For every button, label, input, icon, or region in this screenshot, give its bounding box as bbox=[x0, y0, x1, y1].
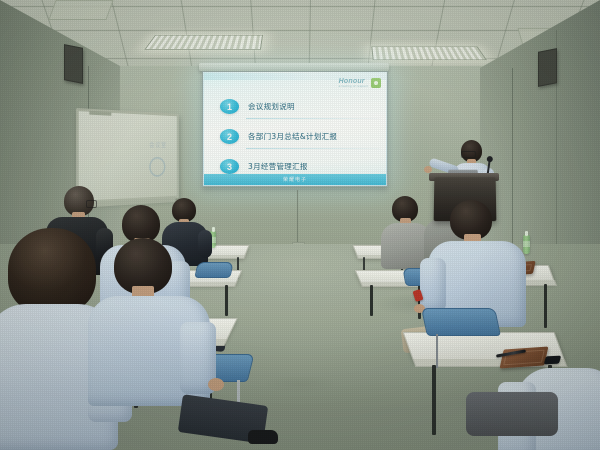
wall-corner-right bbox=[512, 68, 513, 254]
glasses-icon bbox=[86, 200, 97, 208]
ceiling-vent-left bbox=[48, 0, 113, 20]
agenda-number-badge: 1 bbox=[220, 99, 239, 114]
agenda-item: 3 3月经营管理汇报 bbox=[220, 159, 376, 174]
wall-outlet bbox=[297, 190, 298, 247]
agenda-item-label: 会议规划说明 bbox=[248, 101, 295, 112]
wall-speaker-left bbox=[64, 44, 83, 84]
whiteboard-faint-text: 会议室 bbox=[149, 140, 167, 149]
agenda-number-badge: 2 bbox=[220, 129, 239, 144]
slide-footer: 荣耀电子 bbox=[204, 174, 386, 185]
agenda-item: 1 会议规划说明 bbox=[220, 99, 376, 114]
projection-screen: Honour a feeling of respect 1 会议规划说明 2 各… bbox=[202, 71, 388, 187]
recessed-fluorescent-light-left bbox=[144, 35, 263, 50]
slide-footer-text: 荣耀电子 bbox=[283, 176, 307, 183]
agenda-number-badge: 3 bbox=[220, 159, 239, 174]
wall-speaker-right bbox=[538, 48, 557, 87]
whiteboard: 会议室 bbox=[76, 108, 179, 204]
mobile-phone bbox=[544, 356, 561, 365]
whiteboard-faint-mark bbox=[149, 157, 165, 177]
presentation-slide: Honour a feeling of respect 1 会议规划说明 2 各… bbox=[204, 73, 386, 185]
logo-mark-icon bbox=[371, 78, 381, 88]
agenda-item-label: 3月经营管理汇报 bbox=[248, 161, 308, 172]
glasses-icon bbox=[461, 151, 476, 158]
attendee-leg bbox=[466, 392, 558, 436]
meeting-room-photo: 会议室 Honour a feeling of respect 1 会议规划说明 bbox=[0, 0, 600, 450]
screen-roller-housing bbox=[199, 63, 389, 71]
agenda-item: 2 各部门3月总结&计划汇报 bbox=[220, 129, 376, 144]
recessed-fluorescent-light-right bbox=[371, 46, 487, 60]
agenda-item-label: 各部门3月总结&计划汇报 bbox=[248, 131, 337, 142]
whiteboard-clip bbox=[89, 111, 111, 116]
presenter-pointing-hand bbox=[424, 166, 432, 173]
water-bottle bbox=[523, 235, 530, 254]
company-logo: Honour a feeling of respect bbox=[339, 78, 381, 88]
logo-subtext: a feeling of respect bbox=[339, 85, 368, 88]
